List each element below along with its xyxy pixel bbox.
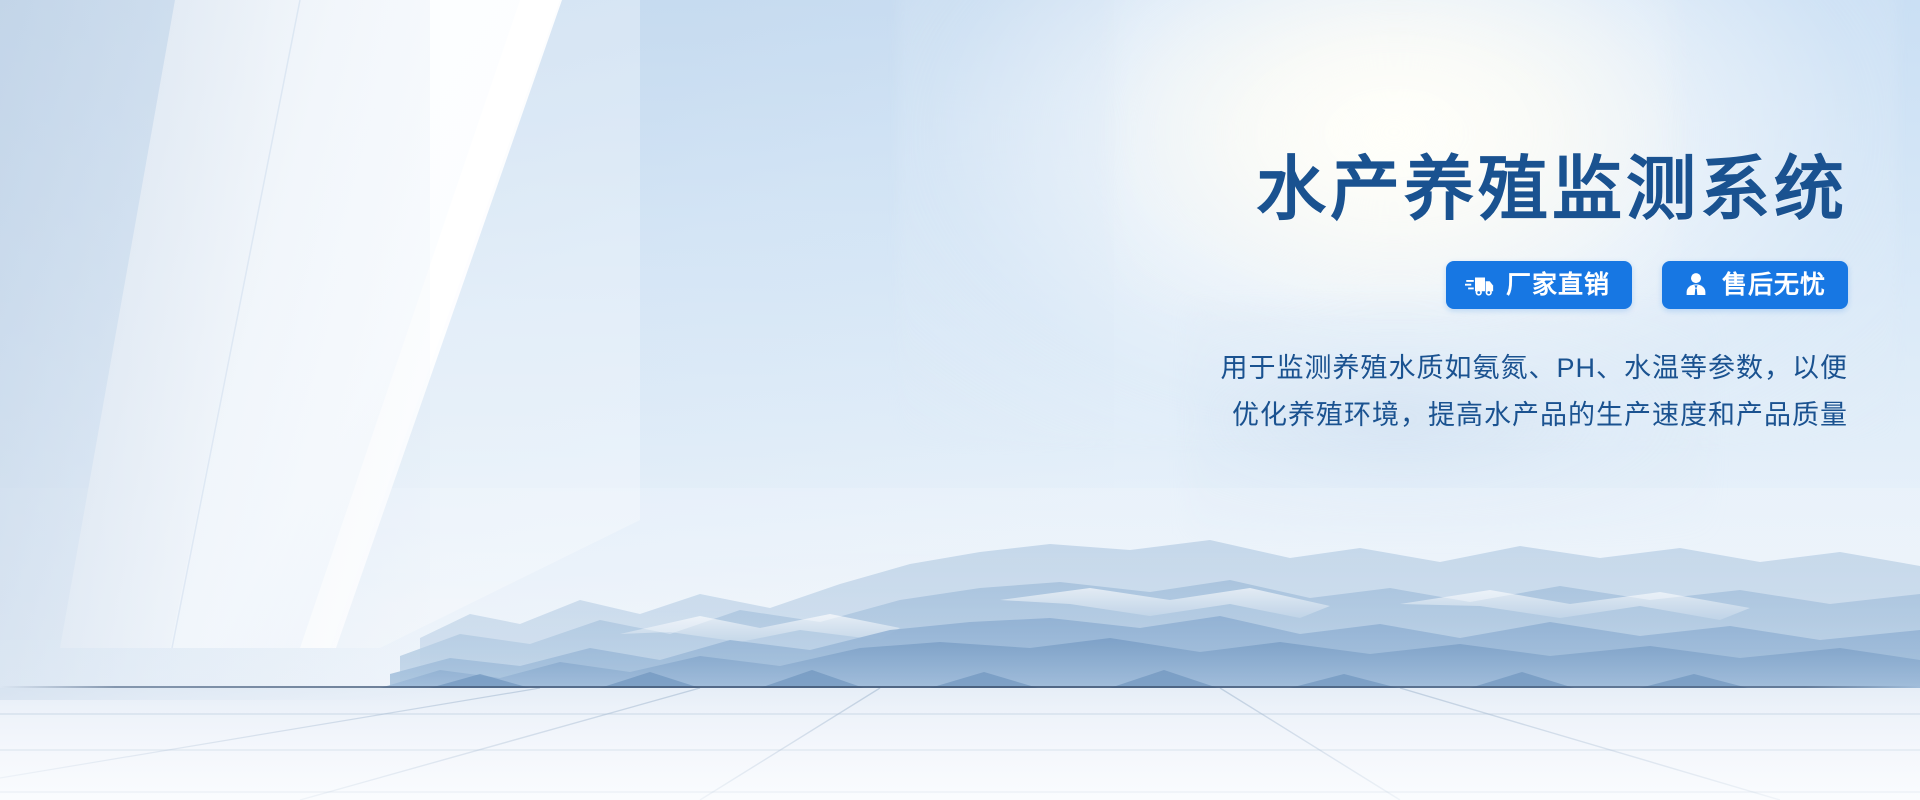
customer-service-person-icon — [1680, 269, 1712, 301]
page-title: 水产养殖监测系统 — [988, 150, 1848, 228]
hero-content: 水产养殖监测系统 厂家直销 — [988, 150, 1848, 438]
badge-factory-direct[interactable]: 厂家直销 — [1446, 261, 1632, 309]
badge-after-sales[interactable]: 售后无忧 — [1662, 261, 1848, 309]
product-hero-banner: 水产养殖监测系统 厂家直销 — [0, 0, 1920, 800]
badge-factory-direct-label: 厂家直销 — [1506, 273, 1610, 298]
badge-group: 厂家直销 售后无忧 — [988, 261, 1848, 309]
badge-after-sales-label: 售后无忧 — [1722, 273, 1826, 298]
architecture-svg — [0, 0, 640, 720]
architecture-wedge — [0, 0, 640, 720]
product-description: 用于监测养殖水质如氨氮、PH、水温等参数，以便 优化养殖环境，提高水产品的生产速… — [988, 345, 1848, 438]
description-line-2: 优化养殖环境，提高水产品的生产速度和产品质量 — [988, 392, 1848, 438]
description-line-1: 用于监测养殖水质如氨氮、PH、水温等参数，以便 — [988, 345, 1848, 391]
delivery-truck-icon — [1464, 269, 1496, 301]
